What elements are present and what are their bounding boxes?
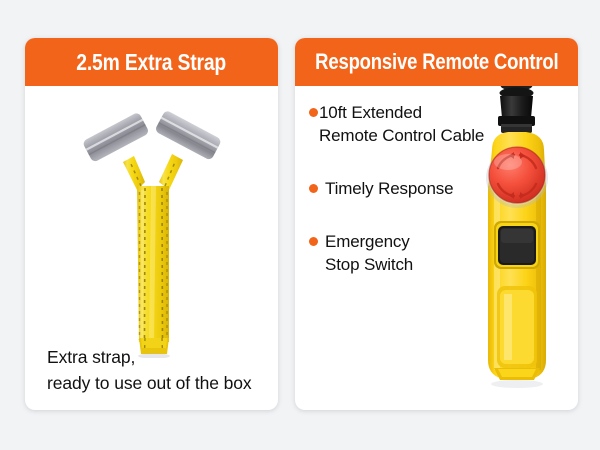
feature-bullet-estop: Emergency Stop Switch [309, 230, 527, 276]
card-body-remote-control: 10ft Extended Remote Control Cable Timel… [295, 86, 578, 410]
strap-illustration [25, 86, 278, 358]
feature-card-remote-control: Responsive Remote Control [295, 38, 578, 410]
card-body-extra-strap: Extra strap, ready to use out of the box [25, 86, 278, 410]
feature-card-extra-strap: 2.5m Extra Strap [25, 38, 278, 410]
remote-feature-list: 10ft Extended Remote Control Cable Timel… [309, 101, 527, 276]
left-card-caption: Extra strap, ready to use out of the box [47, 344, 252, 396]
card-title-extra-strap: 2.5m Extra Strap [77, 49, 227, 76]
card-header-extra-strap: 2.5m Extra Strap [25, 38, 278, 86]
feature-bullet-cable: 10ft Extended Remote Control Cable [309, 101, 527, 147]
feature-image-root: 2.5m Extra Strap [0, 0, 600, 450]
caption-line-2: ready to use out of the box [47, 370, 252, 396]
caption-line-1: Extra strap, [47, 344, 252, 370]
feature-bullet-response: Timely Response [309, 177, 527, 200]
lifting-strap-icon [77, 86, 227, 358]
feature-bullet-label: 10ft Extended Remote Control Cable [319, 101, 484, 147]
feature-bullet-label: Timely Response [325, 177, 453, 200]
feature-bullet-label: Emergency Stop Switch [325, 230, 413, 276]
bullet-dot-icon [309, 108, 318, 117]
bullet-dot-icon [309, 237, 318, 246]
card-header-remote-control: Responsive Remote Control [295, 38, 578, 86]
card-title-remote-control: Responsive Remote Control [315, 49, 558, 75]
bullet-dot-icon [309, 184, 318, 193]
